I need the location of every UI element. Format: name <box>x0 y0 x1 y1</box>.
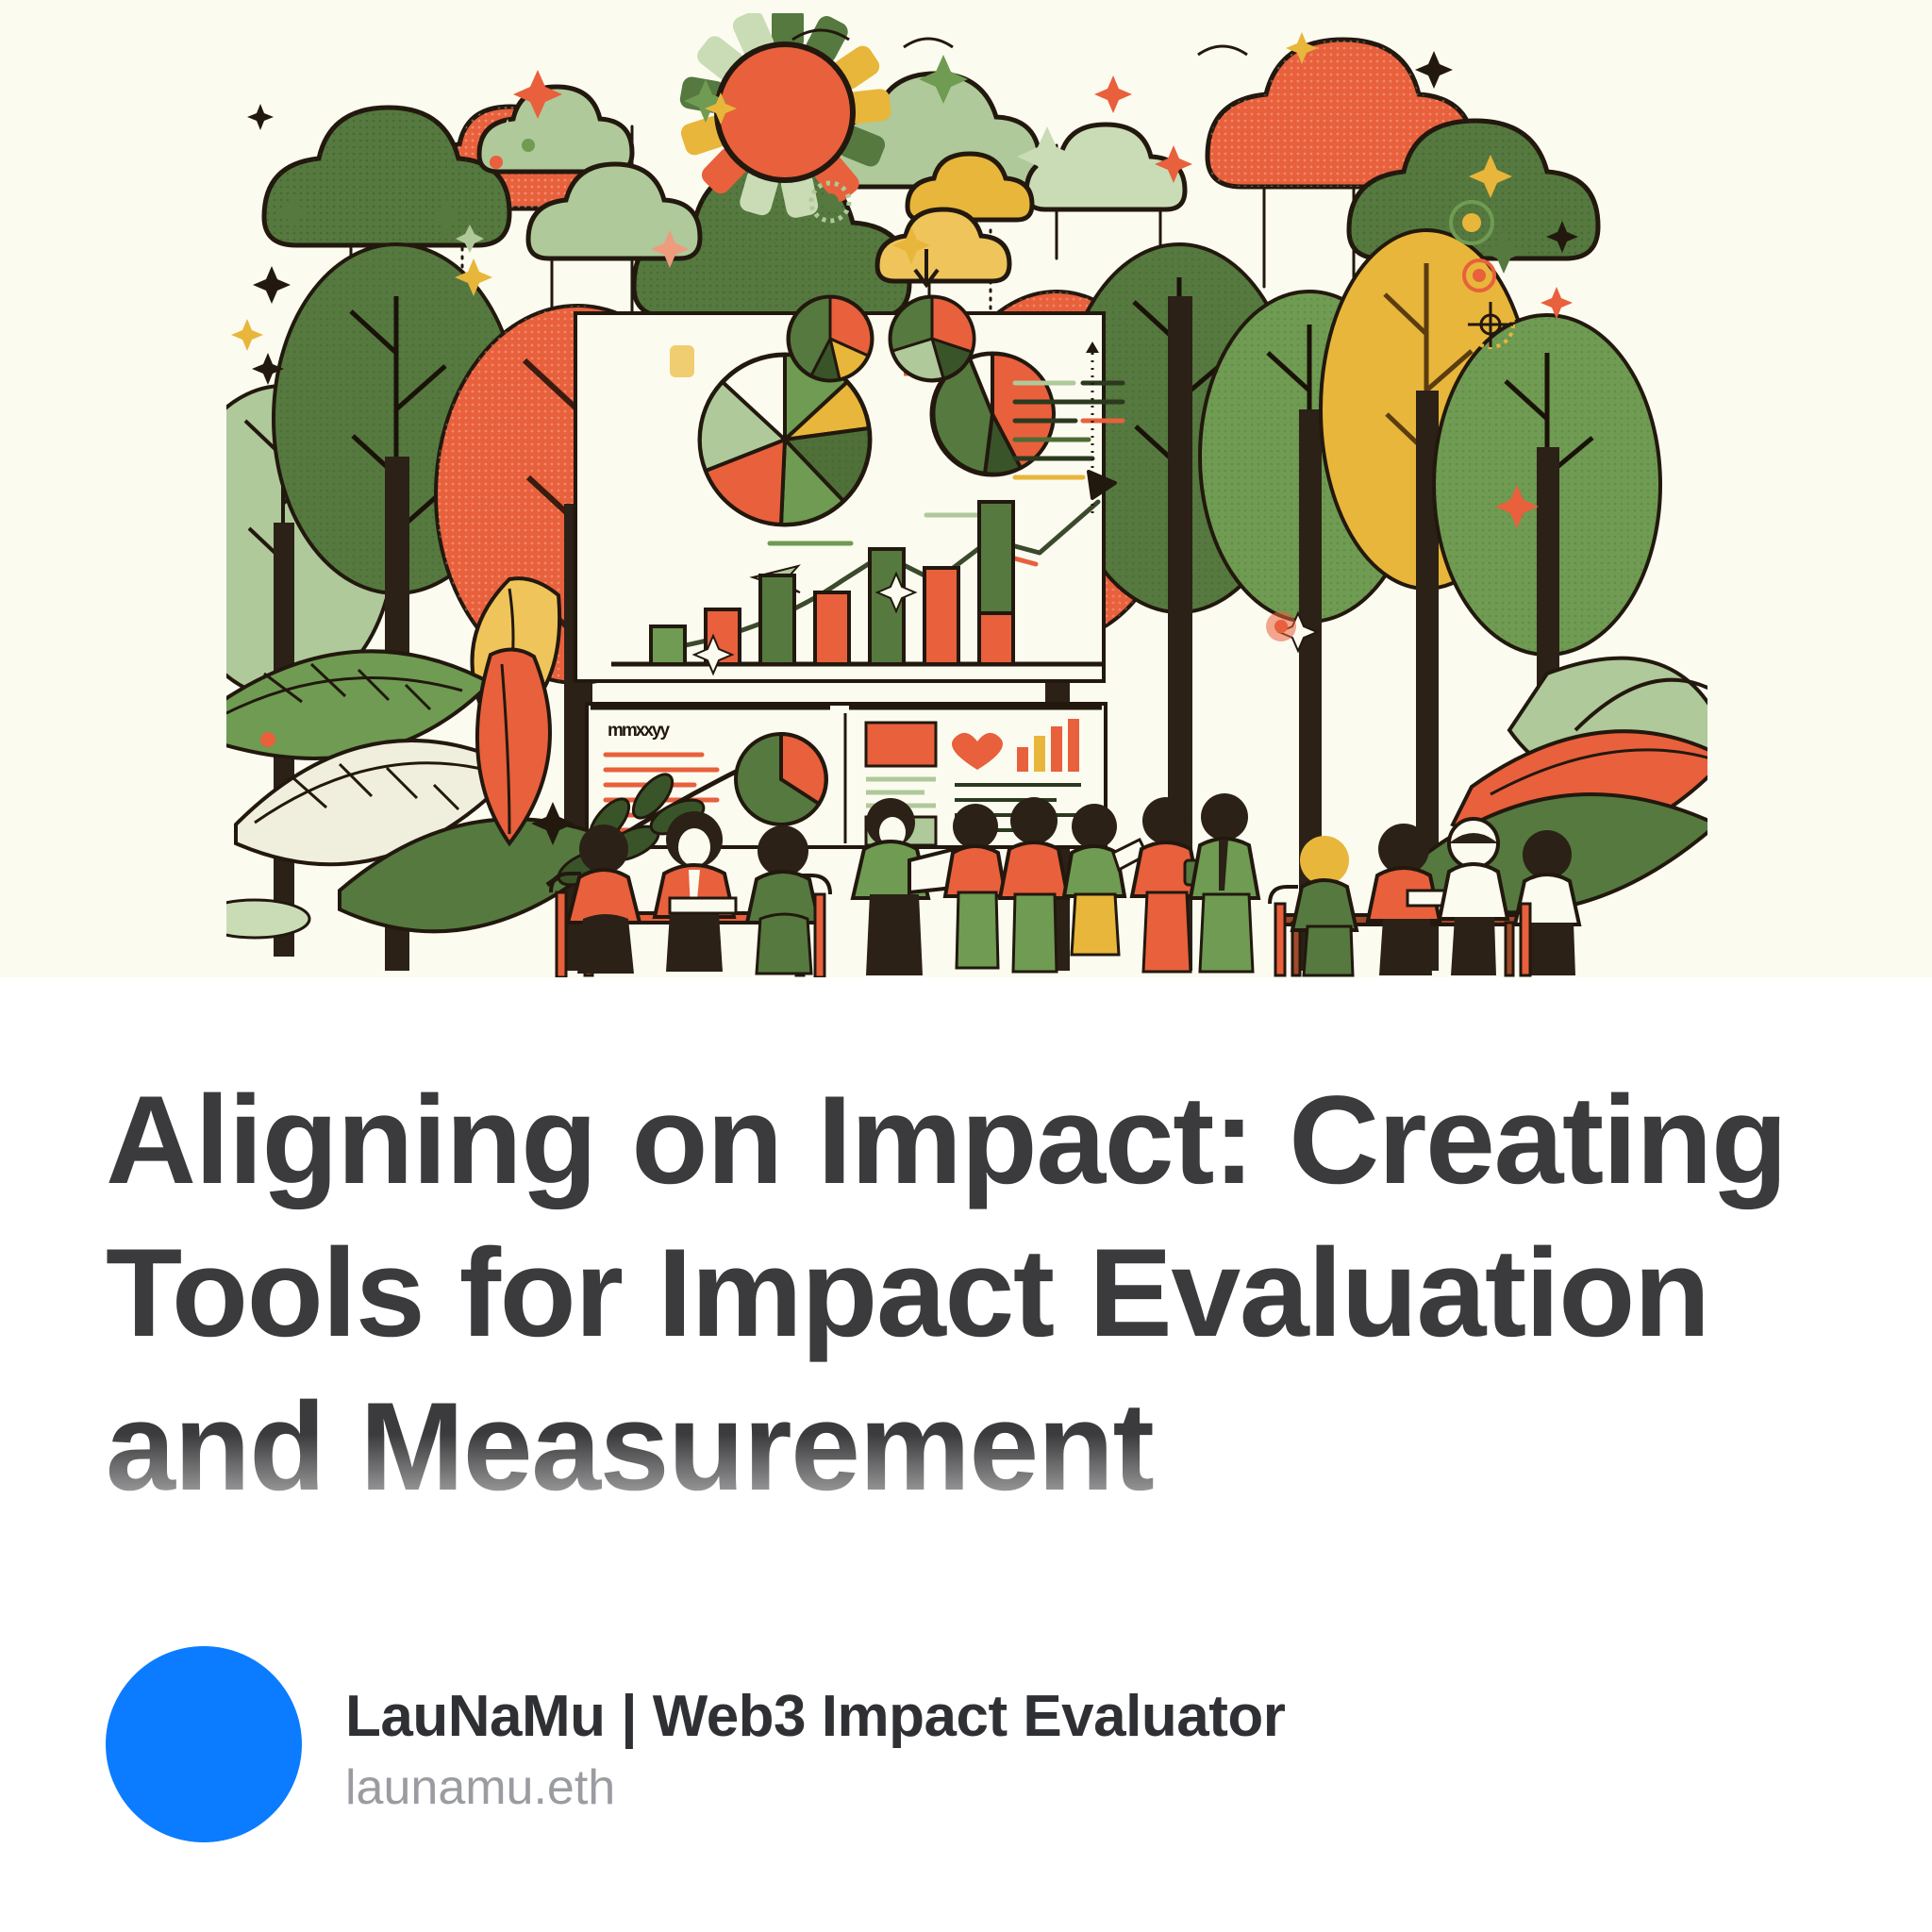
byline-text: LauNaMu | Web3 Impact Evaluator launamu.… <box>345 1674 1285 1816</box>
svg-text:mmxxyy: mmxxyy <box>608 721 670 741</box>
page-title: Aligning on Impact: Creating Tools for I… <box>106 1064 1794 1524</box>
article-preview-card: mmxxyy <box>0 0 1932 1932</box>
dashboard-panel-large <box>575 297 1123 681</box>
hero-illustration: mmxxyy <box>226 13 1707 977</box>
people-standing-crowd <box>945 793 1258 972</box>
article-title-container: Aligning on Impact: Creating Tools for I… <box>106 1064 1794 1547</box>
forest-data-illustration: mmxxyy <box>226 13 1707 977</box>
author-name[interactable]: LauNaMu | Web3 Impact Evaluator <box>345 1683 1285 1750</box>
author-handle[interactable]: launamu.eth <box>345 1759 1285 1816</box>
avatar[interactable] <box>106 1646 302 1842</box>
people-group-right <box>1270 819 1579 975</box>
byline[interactable]: LauNaMu | Web3 Impact Evaluator launamu.… <box>106 1646 1285 1842</box>
hero-image: mmxxyy <box>0 0 1932 977</box>
pie-chart-mini <box>736 734 826 824</box>
pie-chart-small-1 <box>789 297 872 380</box>
pie-chart-small-2 <box>891 297 974 380</box>
